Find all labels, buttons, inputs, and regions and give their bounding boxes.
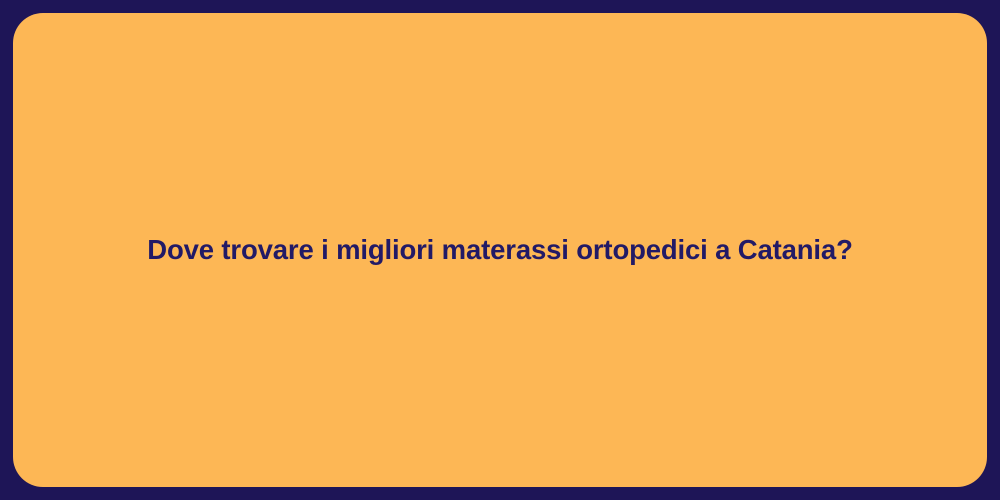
banner-headline: Dove trovare i migliori materassi ortope…: [107, 233, 892, 267]
banner-outer-frame: Dove trovare i migliori materassi ortope…: [0, 0, 1000, 500]
banner-card: Dove trovare i migliori materassi ortope…: [13, 13, 987, 487]
